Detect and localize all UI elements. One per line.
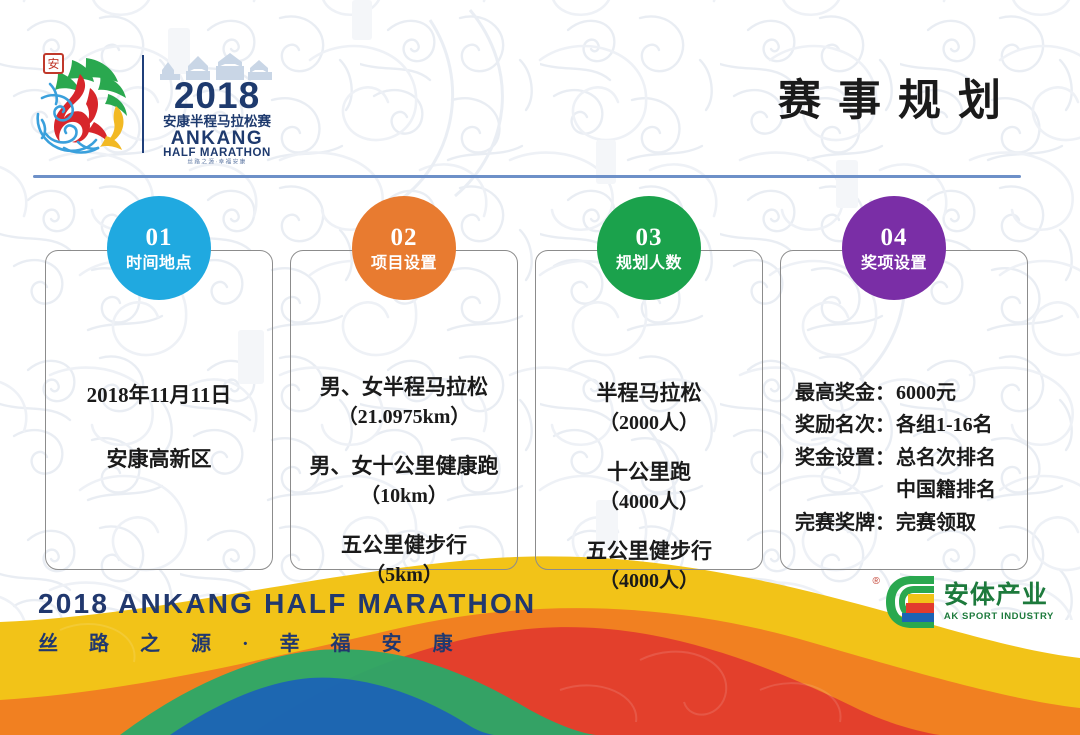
card-3-badge: 03 规划人数 [597,196,701,300]
sponsor-name-en: AK SPORT INDUSTRY [944,611,1054,622]
card-3-group-2: 十公里跑 （4000人） [546,458,752,516]
slide-header: 安 2018 安康半程马 [0,0,1080,176]
card-2-main-1: 男、女半程马拉松 [301,373,507,403]
card-4-row-4: 奖金设置： 中国籍排名 [795,474,1013,506]
card-4-number: 04 [881,225,908,250]
svg-text:ANKANG: ANKANG [171,128,263,149]
card-2-main-3: 五公里健步行 [301,531,507,561]
card-4-body: 最高奖金： 6000元 奖励名次： 各组1-16名 奖金设置： 总名次排名 奖金… [781,377,1027,539]
card-2-group-3: 五公里健步行 （5km） [301,531,507,589]
card-2-body: 男、女半程马拉松 （21.0975km） 男、女十公里健康跑 （10km） 五公… [291,373,517,590]
footer-title-cn: 丝 路 之 源 · 幸 福 安 康 [38,627,536,656]
slide-page: 安 2018 安康半程马 [0,0,1080,735]
card-2-label: 项目设置 [371,256,437,272]
planning-cards: 2018年11月11日 安康高新区 01 时间地点 男、女半程马拉松 （21.0… [0,196,1080,586]
card-3-sub-1: （2000人） [546,409,752,437]
card-2-sub-2: （10km） [301,482,507,510]
card-1-number: 01 [146,225,173,250]
card-2-main-2: 男、女十公里健康跑 [301,452,507,482]
card-4-value-2: 各组1-16名 [896,409,1013,441]
card-1-badge: 01 时间地点 [107,196,211,300]
card-2-number: 02 [391,225,418,250]
card-3-group-3: 五公里健步行 （4000人） [546,537,752,595]
card-4-value-1: 6000元 [896,377,1013,409]
card-3-sub-2: （4000人） [546,488,752,516]
card-2-group-1: 男、女半程马拉松 （21.0975km） [301,373,507,431]
svg-text:2018: 2018 [174,75,260,116]
svg-text:安: 安 [47,56,59,71]
card-4-row-5: 完赛奖牌： 完赛领取 [795,507,1013,539]
card-4-key-3: 奖金设置： [795,442,896,474]
card-4-value-4: 中国籍排名 [896,474,1013,506]
card-3-sub-3: （4000人） [546,567,752,595]
card-1-body: 2018年11月11日 安康高新区 [46,381,272,475]
card-3-body: 半程马拉松 （2000人） 十公里跑 （4000人） 五公里健步行 （4000人… [536,379,762,596]
card-4-value-3: 总名次排名 [896,442,1013,474]
footer-title-en: 2018 ANKANG HALF MARATHON [38,588,536,620]
logo-divider [142,55,144,153]
card-4-key-2: 奖励名次： [795,409,896,441]
card-4-row-3: 奖金设置： 总名次排名 [795,442,1013,474]
card-3-main-2: 十公里跑 [546,458,752,488]
ankang-marathon-emblem-icon: 安 [28,48,138,160]
svg-text:安康半程马拉松赛: 安康半程马拉松赛 [163,113,271,129]
card-2-badge: 02 项目设置 [352,196,456,300]
card-4-key-1: 最高奖金： [795,377,896,409]
card-2-sub-1: （21.0975km） [301,403,507,431]
card-4-label: 奖项设置 [861,256,927,272]
footer-title-block: 2018 ANKANG HALF MARATHON 丝 路 之 源 · 幸 福 … [38,588,536,656]
card-3-label: 规划人数 [616,256,682,272]
card-1-label: 时间地点 [126,256,192,272]
event-wordmark-icon: 2018 安康半程马拉松赛 ANKANG HALF MARATHON 丝路之源·… [154,44,280,164]
card-3-number: 03 [636,225,663,250]
card-4-key-5: 完赛奖牌： [795,507,896,539]
card-3-main-1: 半程马拉松 [546,379,752,409]
card-4-row-1: 最高奖金： 6000元 [795,377,1013,409]
card-1-line-2: 安康高新区 [56,445,262,475]
card-2-group-2: 男、女十公里健康跑 （10km） [301,452,507,510]
event-logo: 安 2018 安康半程马 [28,44,280,164]
card-4-row-2: 奖励名次： 各组1-16名 [795,409,1013,441]
card-3-main-3: 五公里健步行 [546,537,752,567]
card-1-line-1: 2018年11月11日 [56,381,262,411]
sponsor-name-block: 安体产业 AK SPORT INDUSTRY [944,582,1054,622]
card-2-sub-3: （5km） [301,561,507,589]
card-4-value-5: 完赛领取 [896,507,1013,539]
header-divider-rule [33,175,1021,178]
card-3-group-1: 半程马拉松 （2000人） [546,379,752,437]
page-title: 赛事规划 [778,66,1018,128]
svg-text:HALF MARATHON: HALF MARATHON [163,147,271,159]
card-4-badge: 04 奖项设置 [842,196,946,300]
